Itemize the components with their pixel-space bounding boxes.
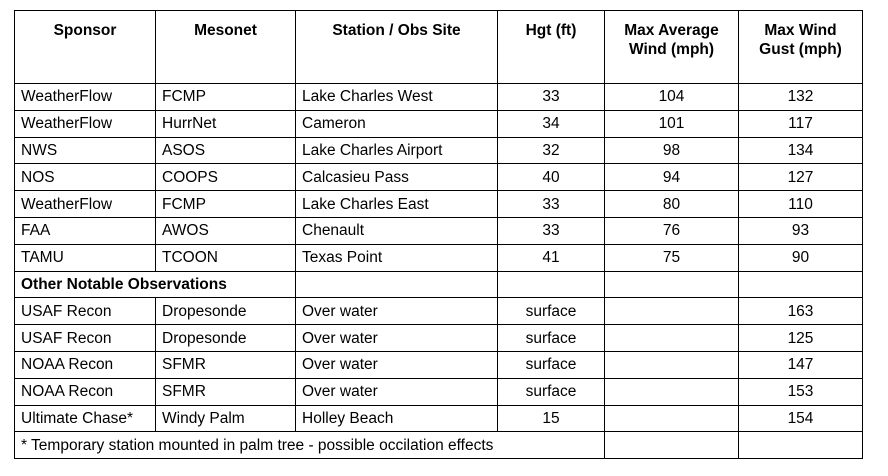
cell-station: Lake Charles Airport [296,137,498,164]
cell-station-empty [296,271,498,298]
cell-station: Over water [296,325,498,352]
cell-hgt: 34 [498,110,605,137]
column-header-max-average-wind: Max Average Wind (mph) [605,11,739,84]
cell-hgt: 40 [498,164,605,191]
cell-max-wind-gust: 153 [739,378,863,405]
cell-hgt: 33 [498,191,605,218]
column-header-max-average-wind-line2: Wind (mph) [629,41,714,58]
cell-hgt: surface [498,298,605,325]
cell-max-avg-wind: 94 [605,164,739,191]
cell-station: Over water [296,351,498,378]
cell-hgt: surface [498,351,605,378]
cell-mesonet: TCOON [156,244,296,271]
cell-station: Cameron [296,110,498,137]
cell-station: Over water [296,298,498,325]
cell-max-avg-wind: 76 [605,217,739,244]
cell-max-avg-wind: 101 [605,110,739,137]
cell-max-wind-gust: 110 [739,191,863,218]
table-row: TAMU TCOON Texas Point 41 75 90 [15,244,863,271]
cell-sponsor: WeatherFlow [15,110,156,137]
table-row: USAF Recon Dropesonde Over water surface… [15,325,863,352]
section-header-label: Other Notable Observations [15,271,296,298]
column-header-hgt: Hgt (ft) [498,11,605,84]
cell-max-wind-gust: 125 [739,325,863,352]
cell-max-wind-gust: 90 [739,244,863,271]
cell-hgt: 41 [498,244,605,271]
cell-max-avg-wind [605,378,739,405]
table-row: WeatherFlow HurrNet Cameron 34 101 117 [15,110,863,137]
column-header-max-wind-gust-line1: Max Wind [764,22,836,39]
cell-hgt: 33 [498,217,605,244]
cell-max-avg-wind [605,298,739,325]
hurricane-wind-observations-table: Sponsor Mesonet Station / Obs Site Hgt (… [14,10,863,459]
cell-mesonet: FCMP [156,191,296,218]
table-row: NWS ASOS Lake Charles Airport 32 98 134 [15,137,863,164]
cell-max-avg-wind-empty [605,271,739,298]
table-row: FAA AWOS Chenault 33 76 93 [15,217,863,244]
cell-sponsor: NOS [15,164,156,191]
cell-mesonet: Windy Palm [156,405,296,432]
cell-hgt: 15 [498,405,605,432]
cell-max-avg-wind: 98 [605,137,739,164]
footnote-text: * Temporary station mounted in palm tree… [15,432,605,459]
cell-sponsor: FAA [15,217,156,244]
cell-hgt-empty [498,271,605,298]
cell-mesonet: COOPS [156,164,296,191]
cell-station: Holley Beach [296,405,498,432]
column-header-max-average-wind-line1: Max Average [624,22,718,39]
cell-max-wind-gust: 163 [739,298,863,325]
footnote-cell-max-avg-wind-empty [605,432,739,459]
cell-sponsor: WeatherFlow [15,84,156,111]
column-header-max-wind-gust-line2: Gust (mph) [759,41,842,58]
cell-max-wind-gust: 147 [739,351,863,378]
cell-sponsor: NWS [15,137,156,164]
cell-mesonet: Dropesonde [156,325,296,352]
cell-max-wind-gust: 93 [739,217,863,244]
cell-max-wind-gust: 132 [739,84,863,111]
cell-hgt: 32 [498,137,605,164]
cell-mesonet: SFMR [156,351,296,378]
cell-hgt: surface [498,325,605,352]
cell-max-avg-wind [605,351,739,378]
cell-hgt: 33 [498,84,605,111]
cell-station: Calcasieu Pass [296,164,498,191]
table-row: Ultimate Chase* Windy Palm Holley Beach … [15,405,863,432]
table-row: WeatherFlow FCMP Lake Charles East 33 80… [15,191,863,218]
cell-station: Lake Charles West [296,84,498,111]
footnote-row: * Temporary station mounted in palm tree… [15,432,863,459]
cell-mesonet: SFMR [156,378,296,405]
cell-sponsor: NOAA Recon [15,351,156,378]
cell-mesonet: FCMP [156,84,296,111]
cell-max-avg-wind: 104 [605,84,739,111]
cell-sponsor: Ultimate Chase* [15,405,156,432]
table-row: USAF Recon Dropesonde Over water surface… [15,298,863,325]
cell-mesonet: HurrNet [156,110,296,137]
table-row: NOS COOPS Calcasieu Pass 40 94 127 [15,164,863,191]
cell-max-wind-gust-empty [739,271,863,298]
cell-sponsor: TAMU [15,244,156,271]
cell-station: Lake Charles East [296,191,498,218]
cell-hgt: surface [498,378,605,405]
table-body: WeatherFlow FCMP Lake Charles West 33 10… [15,84,863,459]
cell-station: Chenault [296,217,498,244]
column-header-station: Station / Obs Site [296,11,498,84]
table-header: Sponsor Mesonet Station / Obs Site Hgt (… [15,11,863,84]
column-header-sponsor: Sponsor [15,11,156,84]
column-header-max-wind-gust: Max Wind Gust (mph) [739,11,863,84]
cell-sponsor: NOAA Recon [15,378,156,405]
cell-mesonet: AWOS [156,217,296,244]
cell-max-avg-wind [605,325,739,352]
cell-max-wind-gust: 117 [739,110,863,137]
section-header-row: Other Notable Observations [15,271,863,298]
cell-max-avg-wind: 80 [605,191,739,218]
wind-observations-container: Sponsor Mesonet Station / Obs Site Hgt (… [14,10,862,459]
table-row: NOAA Recon SFMR Over water surface 147 [15,351,863,378]
footnote-cell-max-wind-gust-empty [739,432,863,459]
cell-sponsor: USAF Recon [15,298,156,325]
cell-max-wind-gust: 134 [739,137,863,164]
cell-max-avg-wind [605,405,739,432]
cell-station: Texas Point [296,244,498,271]
column-header-mesonet: Mesonet [156,11,296,84]
cell-max-wind-gust: 154 [739,405,863,432]
cell-mesonet: Dropesonde [156,298,296,325]
cell-station: Over water [296,378,498,405]
table-row: NOAA Recon SFMR Over water surface 153 [15,378,863,405]
cell-max-wind-gust: 127 [739,164,863,191]
cell-sponsor: WeatherFlow [15,191,156,218]
header-row: Sponsor Mesonet Station / Obs Site Hgt (… [15,11,863,84]
cell-mesonet: ASOS [156,137,296,164]
table-row: WeatherFlow FCMP Lake Charles West 33 10… [15,84,863,111]
cell-sponsor: USAF Recon [15,325,156,352]
cell-max-avg-wind: 75 [605,244,739,271]
